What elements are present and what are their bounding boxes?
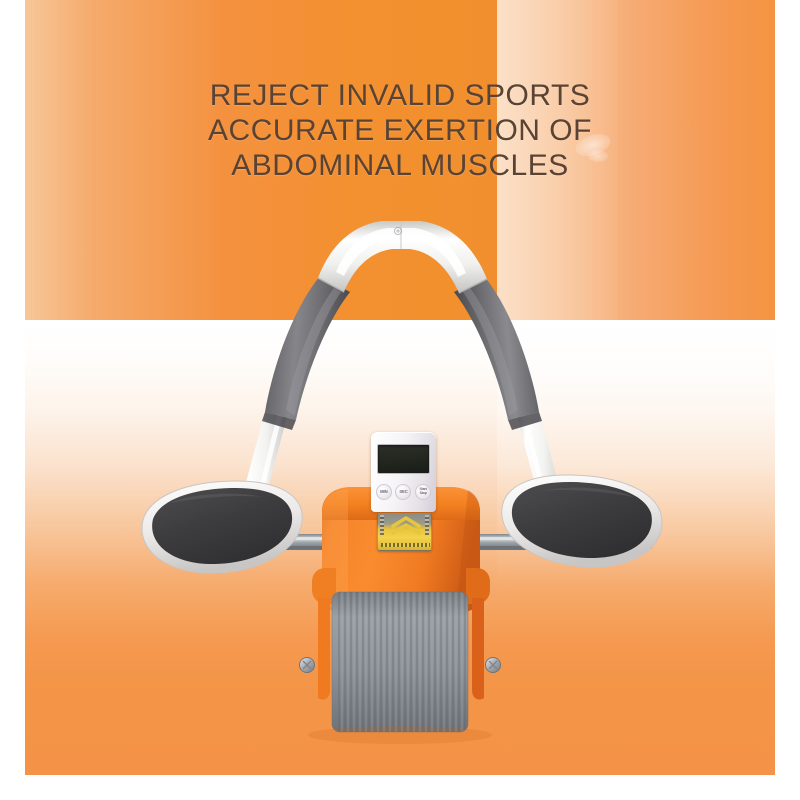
product-illustration [0, 0, 800, 800]
double-chevron-up-icon [378, 516, 432, 535]
axle-bolt-left [300, 658, 315, 673]
start-stop-button[interactable]: Start Stop [415, 484, 431, 500]
axle-bolt-right [486, 658, 501, 673]
warning-label [377, 513, 432, 551]
warning-label-caption [381, 543, 430, 547]
rebound-roller [332, 592, 468, 732]
product-image-canvas: REJECT INVALID SPORTS ACCURATE EXERTION … [0, 0, 800, 800]
handlebar-arch [318, 221, 487, 293]
elbow-pad-left [142, 481, 302, 573]
foam-grip-right [454, 276, 542, 430]
timer-button-row: MIN SEC Start Stop [374, 482, 433, 502]
stop-label: Stop [420, 492, 427, 496]
digital-timer[interactable]: MIN SEC Start Stop [371, 432, 436, 512]
min-button[interactable]: MIN [376, 484, 392, 500]
product-shadow [308, 726, 492, 744]
sec-button[interactable]: SEC [395, 484, 411, 500]
foam-grip-left [262, 276, 350, 430]
timer-lcd-screen [377, 444, 430, 474]
elbow-pad-right [502, 475, 662, 567]
